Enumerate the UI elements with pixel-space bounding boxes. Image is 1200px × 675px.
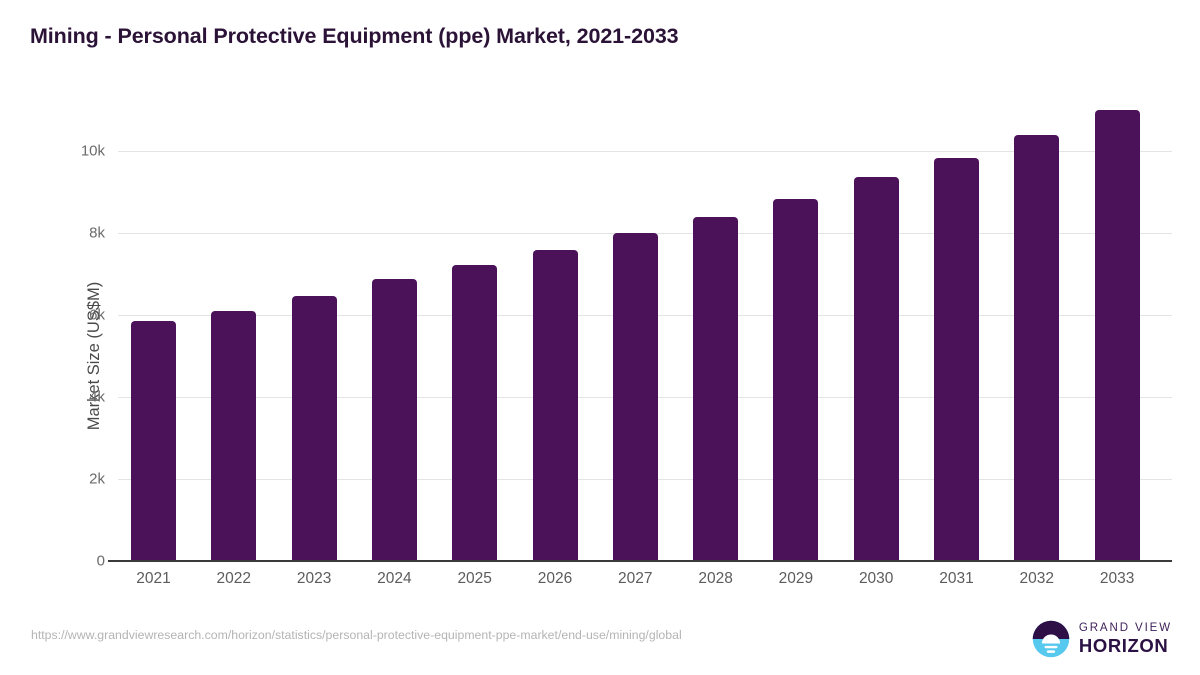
- bar[interactable]: [693, 217, 738, 561]
- bar[interactable]: [1014, 135, 1059, 561]
- x-tick-label: 2022: [189, 570, 279, 588]
- y-tick-label: 4k: [60, 389, 105, 406]
- x-tick-label: 2030: [831, 570, 921, 588]
- bar[interactable]: [292, 296, 337, 561]
- bar[interactable]: [934, 158, 979, 561]
- source-url[interactable]: https://www.grandviewresearch.com/horizo…: [31, 628, 682, 642]
- logo-wordmark: GRAND VIEW HORIZON: [1079, 623, 1172, 656]
- bar[interactable]: [211, 311, 256, 561]
- x-tick-label: 2024: [349, 570, 439, 588]
- x-tick-label: 2029: [751, 570, 841, 588]
- x-tick-label: 2032: [992, 570, 1082, 588]
- x-tick-label: 2031: [912, 570, 1002, 588]
- y-tick-label: 8k: [60, 225, 105, 242]
- y-tick-label: 6k: [60, 307, 105, 324]
- bar[interactable]: [131, 321, 176, 561]
- bar[interactable]: [372, 279, 417, 561]
- bar[interactable]: [1095, 110, 1140, 561]
- x-tick-label: 2025: [430, 570, 520, 588]
- x-tick-label: 2023: [269, 570, 359, 588]
- y-tick-label: 10k: [60, 143, 105, 160]
- plot-area: [118, 90, 1172, 561]
- logo-bottom-text: HORIZON: [1079, 637, 1172, 656]
- x-tick-label: 2027: [590, 570, 680, 588]
- y-tick-label: 2k: [60, 471, 105, 488]
- x-tick-label: 2026: [510, 570, 600, 588]
- page-title: Mining - Personal Protective Equipment (…: [30, 24, 679, 49]
- x-tick-label: 2033: [1072, 570, 1162, 588]
- horizon-logo-icon: [1032, 620, 1070, 658]
- chart-page: Mining - Personal Protective Equipment (…: [0, 0, 1200, 675]
- logo-top-text: GRAND VIEW: [1079, 623, 1172, 635]
- y-axis-label: Market Size (US$M): [85, 206, 104, 506]
- grand-view-horizon-logo[interactable]: GRAND VIEW HORIZON: [1032, 620, 1172, 658]
- bar[interactable]: [452, 265, 497, 561]
- x-tick-label: 2028: [671, 570, 761, 588]
- x-axis-line: [108, 560, 1172, 562]
- y-tick-label: 0: [60, 553, 105, 570]
- bar[interactable]: [533, 250, 578, 561]
- bar[interactable]: [613, 233, 658, 561]
- bar[interactable]: [854, 177, 899, 561]
- bar[interactable]: [773, 199, 818, 561]
- x-tick-label: 2021: [109, 570, 199, 588]
